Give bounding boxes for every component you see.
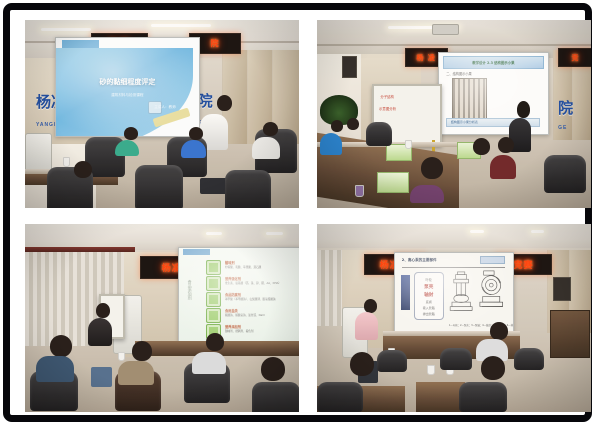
paper-cup [405, 140, 412, 149]
slide-data-table: 教学设计 2.3 结构图示小果 二、结构图示小果 结构图示小果分析表 [439, 53, 549, 134]
attendee-head [481, 356, 505, 380]
attendee-head [50, 335, 72, 357]
slide-corner-bar [62, 40, 99, 48]
slide-tag-box [480, 256, 506, 264]
list-item-text: 酸味剂 柠檬酸、乳酸、苹果酸、酒石酸 [225, 260, 295, 269]
list-item: 食用盐类 碳酸钠、碳酸氢钠、氯化钙、NaCl [206, 308, 295, 323]
slide-table-image [452, 78, 487, 122]
list-item: 营养强化剂 维生素、氨基酸（钙、铁、锌、硒、AA、DHA） [206, 276, 295, 291]
photo-bottom-right[interactable]: 杨凌职 竞赛 2、离心泵的主要部件 叶轮 [317, 224, 591, 412]
attendee-body-white [192, 352, 226, 374]
callout-5: 排出管路 [423, 312, 435, 316]
collage-page: 凌 职 院 杨凌 YANGLING 院 GE [0, 0, 602, 432]
slide-author: 主讲人：教师 [154, 105, 176, 110]
list-item-text: 食品防腐剂 苯甲酸（苯甲酸钠）、山梨酸钾、脱氢醋酸钠 [225, 292, 295, 301]
slide-icon-list: 食品添加剂 酸味剂 柠檬酸、乳酸、苹果酸、酒石酸 [179, 248, 299, 342]
led-banner-right: 竞 [558, 48, 591, 67]
presenter-body [88, 318, 112, 346]
leaf-icon [206, 260, 221, 275]
attendee-head [350, 352, 374, 376]
slide-top-bar [183, 249, 210, 255]
presenter-head [217, 95, 232, 111]
attendee-head [498, 137, 514, 153]
callout-0: 叶轮 [426, 277, 432, 282]
attendee-body-red [490, 155, 516, 179]
chair [366, 122, 392, 146]
wall-logo-chinese: 院 [558, 97, 573, 118]
ceiling-projector [432, 24, 459, 35]
photo-bottom-left[interactable]: 杨凌职 食品添加剂 酸味剂 柠檬酸、乳酸、苹果酸、酒石酸 [25, 224, 299, 412]
led-banner-left-text: 杨 凌 [417, 53, 436, 63]
paper-cup [63, 157, 70, 167]
curtain-rail [25, 247, 135, 252]
whiteboard-text-1: 分子结构 [380, 94, 394, 99]
presenter-head [96, 303, 110, 318]
tissue-box [377, 172, 409, 193]
attendee-head [473, 138, 490, 155]
photo-grid: 凌 职 院 杨凌 YANGLING 院 GE [25, 20, 591, 424]
presenter-head [364, 299, 377, 313]
back-desk [416, 382, 465, 412]
attendee-body-purple [410, 185, 444, 203]
list-item-text: 营养添加剂 甜味剂、增稠剂、着色剂 [225, 324, 295, 333]
projection-screen: 2、离心泵的主要部件 叶轮 泵壳 轴封 底阀 吸入管路 排出管路 [394, 252, 514, 333]
chair [225, 170, 271, 208]
attendee-head [261, 357, 285, 381]
ceiling-light [206, 232, 222, 235]
presenter-head [517, 101, 530, 118]
list-item-detail: 碳酸钠、碳酸氢钠、氯化钙、NaCl [225, 313, 295, 317]
list-item-text: 食用盐类 碳酸钠、碳酸氢钠、氯化钙、NaCl [225, 308, 295, 317]
ceiling-light [41, 28, 90, 31]
attendee-head [132, 341, 152, 361]
wall-speaker [553, 277, 571, 302]
callout-1: 泵壳 [424, 284, 433, 290]
list-item-detail: 苯甲酸（苯甲酸钠）、山梨酸钾、脱氢醋酸钠 [225, 297, 295, 301]
wall-logo-chinese-2: 院 [198, 90, 213, 111]
paper-cup [118, 352, 125, 361]
pump-diagram-right [475, 269, 506, 316]
list-item: 食品防腐剂 苯甲酸（苯甲酸钠）、山梨酸钾、脱氢醋酸钠 [206, 292, 295, 307]
ceiling-light [266, 232, 282, 235]
projection-screen: 砂的黏细程度评定 建筑材料与检测课程 主讲人：教师 [55, 37, 199, 137]
ceiling [317, 224, 591, 250]
photo-top-left[interactable]: 凌 职 院 杨凌 YANGLING 院 GE [25, 20, 299, 208]
slide-subtitle: 建筑材料与检测课程 [111, 93, 143, 98]
lecture-room-scene-3: 杨凌职 食品添加剂 酸味剂 柠檬酸、乳酸、苹果酸、酒石酸 [25, 224, 299, 412]
chair [514, 348, 544, 370]
pump-diagram-left [447, 271, 475, 317]
presenter-body-pink [355, 312, 378, 340]
slide-side-bar [401, 275, 410, 310]
attendee-head [347, 118, 359, 130]
led-banner-right-text: 院 [211, 38, 220, 49]
attendee-head [490, 322, 508, 340]
list-item-detail: 维生素、氨基酸（钙、铁、锌、硒、AA、DHA） [225, 281, 295, 285]
slide-header-text: 教学设计 2.3 结构图示小果 [472, 60, 514, 65]
slide-header-text: 2、离心泵的主要部件 [402, 258, 437, 263]
ceiling-light [470, 230, 484, 233]
attendee-head [331, 120, 343, 132]
lecture-room-scene-4: 杨凌职 竞赛 2、离心泵的主要部件 叶轮 [317, 224, 591, 412]
chair [459, 382, 507, 412]
list-item-detail: 柠檬酸、乳酸、苹果酸、酒石酸 [225, 265, 295, 269]
callout-3: 底阀 [426, 300, 432, 304]
shield-icon [206, 292, 221, 307]
projection-screen: 教学设计 2.3 结构图示小果 二、结构图示小果 结构图示小果分析表 [438, 52, 550, 135]
salt-icon [206, 308, 221, 323]
attendee-body-blue [36, 356, 74, 382]
attendee-body-blue [181, 140, 206, 158]
slide-callout-box: 叶轮 泵壳 轴封 底阀 吸入管路 排出管路 [414, 272, 444, 320]
chair [544, 155, 586, 193]
slide-pump-diagram: 2、离心泵的主要部件 叶轮 泵壳 轴封 底阀 吸入管路 排出管路 [395, 253, 513, 332]
lecture-room-scene-1: 凌 职 院 杨凌 YANGLING 院 GE [25, 20, 299, 208]
attendee-head [124, 127, 138, 140]
photo-frame-border: 凌 职 院 杨凌 YANGLING 院 GE [3, 3, 592, 422]
list-item-text: 营养强化剂 维生素、氨基酸（钙、铁、锌、硒、AA、DHA） [225, 276, 295, 285]
whiteboard-text-2: 示意图分析 [379, 106, 396, 111]
list-item-detail: 甜味剂、增稠剂、着色剂 [225, 329, 295, 333]
chair [252, 382, 299, 412]
callout-4: 吸入管路 [423, 306, 435, 310]
slide-line-text: 二、结构图示小果 [446, 71, 472, 76]
ceiling-light [531, 230, 545, 233]
slide-title-blue: 砂的黏细程度评定 建筑材料与检测课程 主讲人：教师 [56, 38, 198, 136]
lectern [550, 310, 590, 357]
projection-screen: 食品添加剂 酸味剂 柠檬酸、乳酸、苹果酸、酒石酸 [178, 247, 299, 343]
wall-speaker [342, 56, 358, 79]
chair [317, 382, 363, 412]
led-banner-right-text: 竞赛 [513, 258, 533, 271]
attendee-body-white [252, 137, 280, 159]
slide-header-band: 教学设计 2.3 结构图示小果 [443, 56, 544, 69]
led-banner-right-text: 竞 [572, 53, 580, 63]
photo-top-right[interactable]: 杨 凌 竞 院 GE 教学设计 2.3 结构图示小果 二、结构图示小果 [317, 20, 591, 208]
attendee-body-tan [118, 361, 154, 385]
chair [440, 348, 472, 370]
ceiling-seam [317, 44, 591, 46]
lecture-room-scene-2: 杨 凌 竞 院 GE 教学设计 2.3 结构图示小果 二、结构图示小果 [317, 20, 591, 208]
paper-cup [427, 365, 435, 375]
attendee-head [74, 161, 92, 178]
purple-cup [355, 185, 364, 197]
list-item: 酸味剂 柠檬酸、乳酸、苹果酸、酒石酸 [206, 260, 295, 275]
slide-footer-text: 结构图示小果分析表 [451, 120, 478, 124]
attendee-body-blue [320, 133, 342, 155]
attendee-head [263, 122, 278, 136]
slide-vertical-title: 食品添加剂 [187, 280, 193, 300]
bottle-icon [206, 276, 221, 291]
chair [135, 165, 183, 208]
window-curtain [317, 250, 342, 325]
wall-logo-english: GE [558, 125, 567, 131]
attendee-head [421, 157, 443, 179]
callout-2: 轴封 [424, 292, 433, 298]
slide-title: 砂的黏细程度评定 [99, 77, 155, 87]
chair [377, 350, 407, 372]
presenter-jeans [91, 367, 112, 387]
ceiling-light [151, 24, 211, 27]
attendee-head [206, 333, 224, 351]
